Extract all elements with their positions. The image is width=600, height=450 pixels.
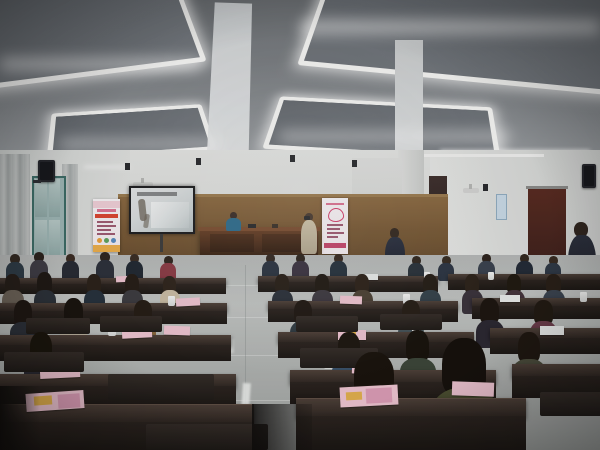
ceiling-coffer-panel (0, 0, 200, 91)
chair (380, 314, 442, 330)
ceiling-light-glow (0, 58, 200, 70)
wall-sign (496, 194, 507, 220)
ceiling-light-track (424, 154, 544, 157)
slide-title-text (137, 192, 177, 196)
track-light-head (290, 155, 295, 162)
banner-body-text (97, 221, 113, 223)
door-frame (526, 186, 568, 189)
ceiling-light-glow (60, 140, 220, 148)
chair-foreground (540, 392, 600, 416)
banner-icon (104, 238, 109, 243)
desk-front-panel (296, 416, 526, 450)
foreground-shadow (0, 386, 40, 450)
speaker-mount-bracket (33, 180, 41, 183)
banner-body-text (327, 236, 338, 238)
banner-accent-band (95, 214, 118, 218)
projector-mount (469, 184, 472, 189)
ceiling-coffer-panel (304, 0, 600, 92)
ceiling-light-glow (300, 20, 600, 34)
wall-speaker-left (38, 160, 55, 182)
table-equipment (248, 224, 256, 228)
banner-title-text (326, 203, 344, 205)
handout-paper-detail (366, 387, 393, 403)
desk-edge-highlight (296, 398, 526, 399)
track-light-head (196, 158, 201, 165)
handout-paper-yellow (346, 392, 362, 401)
banner-right-heart (322, 198, 348, 254)
person-body (226, 218, 241, 231)
banner-icon (97, 238, 102, 243)
desk-foreground (296, 398, 526, 418)
projection-screen (129, 186, 195, 234)
track-light-head (483, 184, 488, 191)
foreground-shadow (252, 404, 312, 450)
chair (4, 352, 84, 372)
chair-foreground (108, 374, 214, 400)
chair-foreground (146, 424, 268, 450)
handout-paper-detail (58, 393, 81, 409)
slide-highlight (151, 202, 189, 228)
track-light-head (125, 163, 130, 170)
table-equipment (272, 224, 278, 228)
banner-body-text (327, 224, 343, 226)
banner-body-text (97, 225, 116, 227)
projector-mount (141, 178, 144, 183)
heart-logo-icon (328, 207, 345, 222)
banner-body-text (97, 229, 111, 231)
ceiling-light-glow (280, 132, 510, 141)
banner-body-text (97, 233, 115, 235)
wall-speaker-right (582, 164, 596, 188)
banner-left-poster (93, 199, 120, 252)
banner-body-text (327, 228, 340, 230)
banner-header-band (93, 201, 120, 208)
wall-light-strip (84, 166, 130, 168)
track-light-head (352, 160, 357, 167)
conference-room-photo (0, 0, 600, 450)
banner-body-text (327, 232, 344, 234)
person-presenter-seated (226, 212, 242, 230)
banner-icon (111, 238, 116, 243)
handout-paper (452, 381, 494, 396)
camera-icon (304, 216, 310, 220)
banner-title-text (97, 209, 116, 212)
projection-screen-slide (131, 188, 193, 232)
slide-figure (143, 214, 150, 229)
